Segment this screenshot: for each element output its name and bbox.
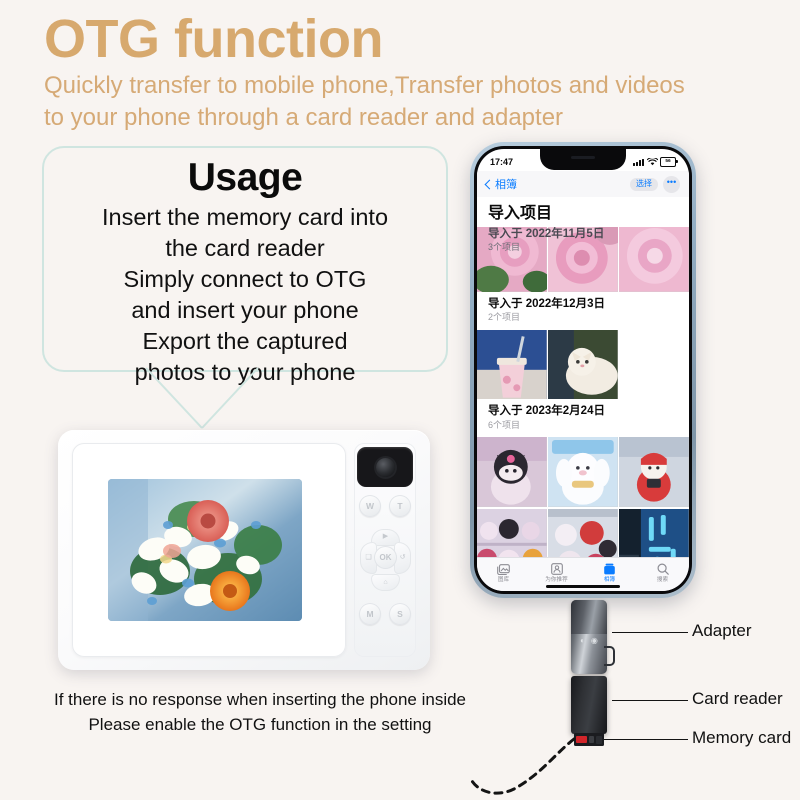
phone-notch [540,149,626,170]
select-button[interactable]: 选择 [630,178,658,191]
tab-for-you[interactable]: 为你推荐 [530,562,583,583]
phone-screen: 17:47 56 [477,149,689,591]
dpad-ok-button[interactable]: OK [374,546,397,569]
adapter-label: Adapter [692,622,752,639]
photo-thumbnail[interactable] [619,509,689,557]
camera-control-panel: W T ▶ ❑ ↺ ⌂ OK M S [354,443,416,657]
photo-thumbnail[interactable] [548,437,618,507]
photo-thumbnail[interactable] [619,437,689,507]
section-header-overlay: 导入于 2022年11月5日 3个项目 [477,222,689,260]
card-reader-leader-line [612,700,688,701]
usage-step: Simply connect to OTG [44,264,446,295]
usage-title: Usage [44,156,446,200]
photo-scroll-area[interactable]: 导入于 2022年11月5日 3个项目 导入于 2022年12月3日 2个项目 [477,222,689,557]
zoom-tele-button[interactable]: T [389,495,411,517]
dpad-down-button[interactable]: ⌂ [371,574,400,591]
footer-note: If there is no response when inserting t… [0,688,520,737]
usage-step: Export the captured [44,326,446,357]
plush-shelf-photo [477,509,547,557]
poster-canvas: OTG function Quickly transfer to mobile … [0,0,800,800]
section-date: 导入于 2022年11月5日 [488,227,678,241]
tab-library[interactable]: 图库 [477,562,530,583]
section-date: 导入于 2023年2月24日 [488,404,678,418]
cellular-bars-icon [633,158,644,166]
status-bar-time: 17:47 [490,157,513,167]
zoom-wide-button[interactable]: W [359,495,381,517]
photo-grid [477,330,689,400]
smartphone-mockup: 17:47 56 [470,142,696,598]
tab-label: 图库 [498,578,509,584]
search-icon [657,562,669,576]
section-header: 导入于 2022年12月3日 2个项目 [477,292,689,330]
footer-line: Please enable the OTG function in the se… [0,713,520,738]
tab-search[interactable]: 搜索 [636,562,689,583]
header-subtitle-line: to your phone through a card reader and … [44,102,784,134]
red-plush-photo [619,437,689,507]
photo-thumbnail[interactable] [548,509,618,557]
section-item-count: 3个项目 [488,242,678,254]
memory-card-leader-line [604,739,688,740]
album-title: 导入项目 [477,197,689,227]
section-header: 导入于 2023年2月24日 6个项目 [477,399,689,437]
card-reader [571,676,607,734]
photo-thumbnail[interactable] [477,509,547,557]
dashed-cable-path [470,735,600,800]
phone-bezel: 17:47 56 [474,146,692,594]
photo-thumbnail[interactable] [477,330,547,400]
wifi-icon [647,158,658,166]
back-to-albums-button[interactable]: 相簿 [486,176,517,192]
photo-thumbnail[interactable] [477,437,547,507]
nav-bar-actions: 选择 ••• [630,176,680,193]
usage-step: Insert the memory card into [44,202,446,233]
tab-label: 为你推荐 [545,578,567,584]
claw-machine-photo [548,509,618,557]
card-reader-label: Card reader [692,690,783,707]
white-cat-photo [548,330,618,400]
adapter-clip [604,646,615,666]
adapter-connector [571,600,607,634]
battery-level: 56 [665,160,670,165]
nav-bar: 相簿 选择 ••• [477,171,689,197]
section-date: 导入于 2022年12月3日 [488,297,678,311]
usage-step: the card reader [44,233,446,264]
tab-label: 相簿 [604,578,615,584]
camera-lens-housing [357,447,413,487]
usage-steps: Insert the memory card into the card rea… [44,202,446,388]
photo-grid [477,437,689,557]
digital-camera: W T ▶ ❑ ↺ ⌂ OK M S [58,430,430,670]
usage-callout-bubble: Usage Insert the memory card into the ca… [42,146,448,372]
mode-button[interactable]: M [359,603,381,625]
memory-card-label: Memory card [692,729,791,746]
photo-thumbnail[interactable] [548,330,618,400]
section-item-count: 2个项目 [488,312,678,324]
speech-bubble-tail [140,366,320,432]
page-title: OTG function [44,12,383,66]
chevron-left-icon [485,179,495,189]
for-you-icon [551,562,563,576]
adapter-markings-icon: ◐◉ [571,636,607,645]
otg-adapter: ◐◉ [571,600,607,674]
photo-section: 导入于 2022年11月5日 3个项目 [477,222,689,292]
photo-grid-empty-cell [619,330,689,400]
flower-photo [108,479,302,621]
back-button-label: 相簿 [495,176,517,192]
tab-albums[interactable]: 相簿 [583,562,636,583]
adapter-leader-line [612,632,688,633]
section-item-count: 6个项目 [488,420,678,432]
usage-step: and insert your phone [44,295,446,326]
kuromi-plush-photo [477,437,547,507]
more-options-button[interactable]: ••• [663,176,680,193]
camera-lcd-screen [108,479,302,621]
camera-dpad[interactable]: ▶ ❑ ↺ ⌂ OK [360,529,411,591]
camera-lens-icon [376,458,395,477]
photos-library-icon [497,562,510,576]
footer-line: If there is no response when inserting t… [0,688,520,713]
shutter-button[interactable]: S [389,603,411,625]
usage-bubble-content: Usage Insert the memory card into the ca… [44,148,446,388]
battery-icon: 56 [660,157,676,167]
header-subtitle-line: Quickly transfer to mobile phone,Transfe… [44,70,784,102]
drink-cup-photo [477,330,547,400]
earpiece-speaker-icon [571,156,595,159]
header-subtitle: Quickly transfer to mobile phone,Transfe… [44,70,784,134]
neon-sign-photo [619,509,689,557]
otg-dongle-assembly: ◐◉ [566,600,612,752]
camera-front-panel [72,443,346,657]
albums-icon [603,562,616,576]
tab-label: 搜索 [657,578,668,584]
status-bar-indicators: 56 [633,157,676,167]
cinnamoroll-plush-photo [548,437,618,507]
home-indicator [546,585,620,589]
